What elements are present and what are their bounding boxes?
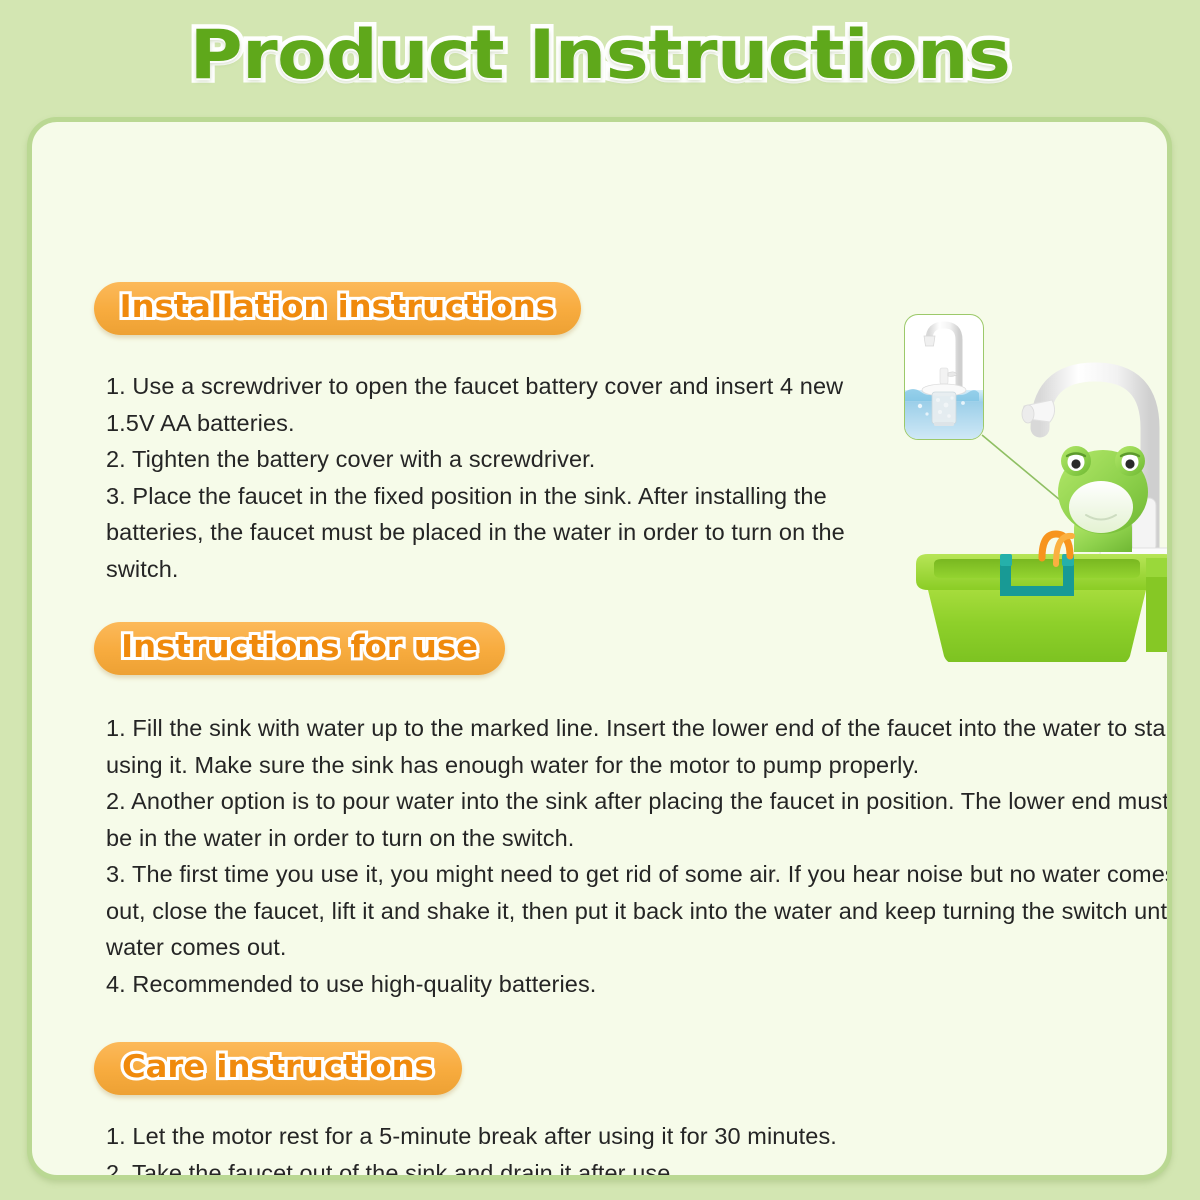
product-photo: [894, 302, 1172, 662]
section-body-use: 1. Fill the sink with water up to the ma…: [106, 710, 1172, 1002]
instructions-card: Installation instructions 1. Use a screw…: [27, 117, 1172, 1180]
page-header: Product Instructions: [0, 0, 1200, 112]
section-body-installation: 1. Use a screwdriver to open the faucet …: [106, 368, 881, 587]
instruction-line: 2. Take the faucet out of the sink and d…: [106, 1155, 1126, 1181]
instruction-line: 4. Recommended to use high-quality batte…: [106, 966, 1172, 1003]
instruction-line: 2. Tighten the battery cover with a scre…: [106, 441, 881, 478]
page-title: Product Instructions: [190, 22, 1010, 90]
section-heading-label: Care instructions: [122, 1051, 434, 1084]
instruction-line: 3. The first time you use it, you might …: [106, 856, 1172, 966]
instruction-line: 1. Let the motor rest for a 5-minute bre…: [106, 1118, 1126, 1155]
section-heading-label: Instructions for use: [121, 631, 478, 664]
instruction-line: 3. Place the faucet in the fixed positio…: [106, 478, 881, 588]
instruction-line: 1. Use a screwdriver to open the faucet …: [106, 368, 881, 441]
sink-basin: [916, 554, 1172, 662]
inset-callout-photo: [905, 315, 983, 439]
section-body-care: 1. Let the motor rest for a 5-minute bre…: [106, 1118, 1126, 1180]
section-heading-label: Installation instructions: [120, 291, 555, 324]
section-heading-installation: Installation instructions: [94, 282, 581, 335]
instruction-line: 1. Fill the sink with water up to the ma…: [106, 710, 1172, 783]
section-heading-use: Instructions for use: [94, 622, 505, 675]
instruction-line: 2. Another option is to pour water into …: [106, 783, 1172, 856]
section-heading-care: Care instructions: [94, 1042, 462, 1095]
